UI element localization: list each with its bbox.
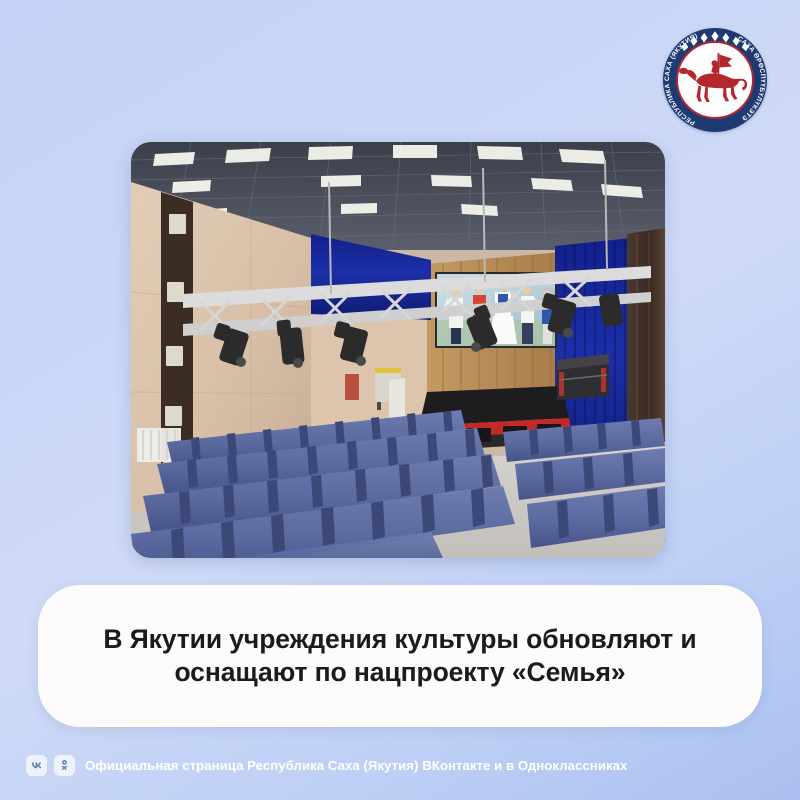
equipment-case	[557, 354, 609, 400]
vk-icon[interactable]	[26, 755, 47, 776]
sakha-republic-coat-of-arms: РЕСПУБЛИКА САХА (ЯКУТИЯ) САХА ӨРӨСПҮҮБҮЛ…	[663, 28, 767, 132]
emblem-horseman-figure-icon	[676, 41, 754, 119]
odnoklassniki-icon[interactable]	[54, 755, 75, 776]
footer-bar: Официальная страница Республика Саха (Як…	[0, 748, 800, 782]
auditorium-photo	[131, 142, 665, 558]
social-media-poster: РЕСПУБЛИКА САХА (ЯКУТИЯ) САХА ӨРӨСПҮҮБҮЛ…	[0, 0, 800, 800]
caption-card: В Якутии учреждения культуры обновляют и…	[38, 585, 762, 727]
footer-text: Официальная страница Республика Саха (Як…	[85, 758, 627, 773]
caption-text: В Якутии учреждения культуры обновляют и…	[50, 623, 750, 690]
